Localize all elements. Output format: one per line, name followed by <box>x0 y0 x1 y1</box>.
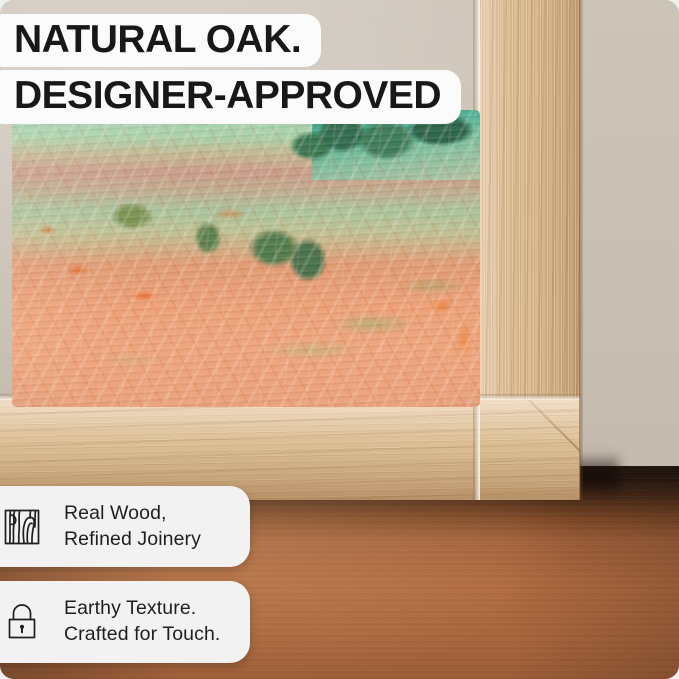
frame-mitre-joint <box>480 400 580 500</box>
product-photo: NATURAL OAK. DESIGNER-APPROVED <box>0 0 679 679</box>
wood-grain-icon <box>0 505 44 549</box>
headline-line-2: DESIGNER-APPROVED <box>0 70 461 123</box>
headline-line-1: NATURAL OAK. <box>0 14 321 67</box>
frame-outer-edge <box>579 0 583 500</box>
feature-card-line-1: Real Wood, <box>64 502 167 524</box>
feature-card-list: Real Wood, Refined Joinery Earthy Textur… <box>0 486 250 663</box>
artwork-sheen-vignette <box>12 110 480 407</box>
feature-card-line-2: Refined Joinery <box>64 527 201 553</box>
framed-artwork <box>12 110 480 407</box>
feature-card-text: Real Wood, Refined Joinery <box>64 501 201 552</box>
lock-icon <box>0 600 44 644</box>
feature-card-earthy-texture[interactable]: Earthy Texture. Crafted for Touch. <box>0 581 250 662</box>
feature-card-text: Earthy Texture. Crafted for Touch. <box>64 596 220 647</box>
feature-card-line-2: Crafted for Touch. <box>64 622 220 648</box>
product-image-canvas: NATURAL OAK. DESIGNER-APPROVED <box>0 0 679 679</box>
feature-card-line-1: Earthy Texture. <box>64 597 196 619</box>
headline-block: NATURAL OAK. DESIGNER-APPROVED <box>0 14 461 124</box>
feature-card-real-wood[interactable]: Real Wood, Refined Joinery <box>0 486 250 567</box>
